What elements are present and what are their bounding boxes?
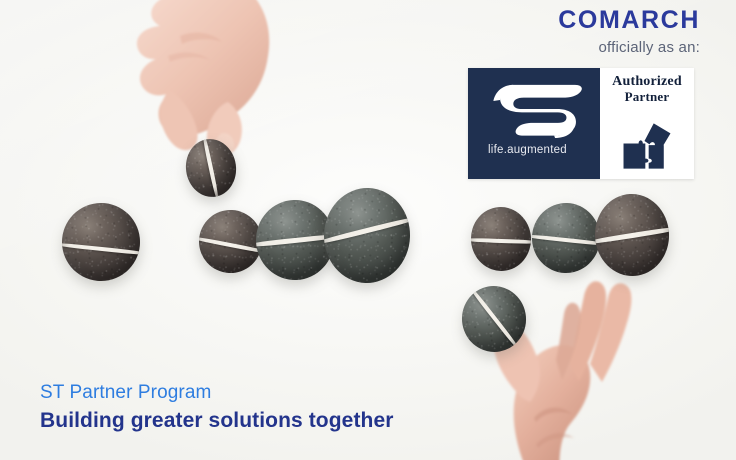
quartz-vein — [467, 284, 521, 351]
quartz-vein — [593, 226, 671, 245]
pebble-right-2 — [531, 202, 601, 274]
st-tagline: life.augmented — [488, 144, 567, 156]
authorized-partner-line2: Partner — [625, 90, 670, 105]
authorized-partner-panel: Authorized Partner — [600, 68, 694, 179]
pebble-held-top — [182, 136, 240, 200]
pebble-held-bottom — [457, 281, 531, 357]
authorized-partner-line1: Authorized — [612, 75, 682, 90]
headline-block: ST Partner Program Building greater solu… — [40, 380, 394, 435]
quartz-vein — [322, 215, 411, 246]
promo-banner: COMARCH officially as an: life.augmented… — [0, 0, 736, 460]
pebble-left-single — [58, 199, 144, 285]
comarch-logo-text: COMARCH — [455, 8, 700, 33]
pebble-right-1 — [469, 205, 533, 273]
pebble-row-3 — [322, 187, 411, 285]
quartz-vein — [531, 233, 601, 246]
pebble-right-3 — [593, 192, 671, 278]
quartz-vein — [197, 235, 263, 254]
pebble-row-1 — [197, 208, 263, 274]
brand-block: COMARCH officially as an: — [455, 8, 700, 55]
headline-program: ST Partner Program — [40, 380, 394, 406]
puzzle-icon — [620, 120, 674, 172]
quartz-vein — [202, 136, 219, 198]
brand-subtitle: officially as an: — [455, 40, 700, 55]
quartz-vein — [58, 241, 144, 255]
st-authorized-partner-badge: life.augmented Authorized Partner — [468, 68, 694, 179]
st-logo — [490, 82, 586, 138]
quartz-vein — [469, 238, 533, 245]
headline-tagline: Building greater solutions together — [40, 406, 394, 435]
st-badge-left-panel: life.augmented — [468, 68, 600, 179]
authorized-partner-title: Authorized Partner — [600, 68, 694, 112]
